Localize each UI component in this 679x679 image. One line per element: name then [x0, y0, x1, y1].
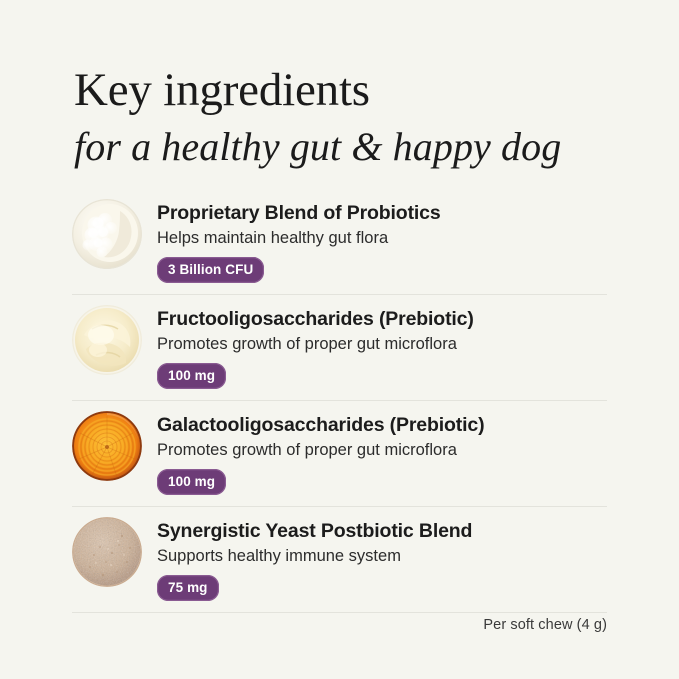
ingredient-description: Helps maintain healthy gut flora: [157, 227, 607, 249]
ingredient-text: Fructooligosaccharides (Prebiotic) Promo…: [146, 295, 607, 389]
orange-root-slice-icon: [72, 411, 142, 481]
ingredient-thumb-wrap: [72, 401, 146, 481]
ingredient-amount-badge: 100 mg: [157, 469, 226, 495]
heading-block: Key ingredients for a healthy gut & happ…: [74, 62, 614, 173]
ingredient-amount-badge: 100 mg: [157, 363, 226, 389]
ingredient-name: Fructooligosaccharides (Prebiotic): [157, 307, 607, 331]
ingredients-list: Proprietary Blend of Probiotics Helps ma…: [72, 189, 607, 613]
ingredient-row: Proprietary Blend of Probiotics Helps ma…: [72, 189, 607, 295]
ingredient-name: Synergistic Yeast Postbiotic Blend: [157, 519, 607, 543]
ingredient-amount-badge: 3 Billion CFU: [157, 257, 264, 283]
ingredient-description: Promotes growth of proper gut microflora: [157, 439, 607, 461]
ingredient-thumb-wrap: [72, 295, 146, 375]
ingredient-row: Galactooligosaccharides (Prebiotic) Prom…: [72, 401, 607, 507]
ingredient-text: Galactooligosaccharides (Prebiotic) Prom…: [146, 401, 607, 495]
page-subtitle: for a healthy gut & happy dog: [74, 121, 614, 173]
ingredient-thumb-wrap: [72, 507, 146, 587]
ingredient-row: Fructooligosaccharides (Prebiotic) Promo…: [72, 295, 607, 401]
serving-size-note: Per soft chew (4 g): [483, 617, 607, 633]
page-title: Key ingredients: [74, 62, 614, 118]
ingredient-description: Promotes growth of proper gut microflora: [157, 333, 607, 355]
ingredient-description: Supports healthy immune system: [157, 545, 607, 567]
key-ingredients-panel: Key ingredients for a healthy gut & happ…: [0, 0, 679, 679]
yogurt-probiotic-swirl-icon: [72, 199, 142, 269]
ingredient-amount-badge: 75 mg: [157, 575, 219, 601]
ingredient-text: Synergistic Yeast Postbiotic Blend Suppo…: [146, 507, 607, 601]
ingredient-text: Proprietary Blend of Probiotics Helps ma…: [146, 189, 607, 283]
ingredient-name: Proprietary Blend of Probiotics: [157, 201, 607, 225]
ingredient-name: Galactooligosaccharides (Prebiotic): [157, 413, 607, 437]
ingredient-row: Synergistic Yeast Postbiotic Blend Suppo…: [72, 507, 607, 613]
tan-yeast-granules-icon: [72, 517, 142, 587]
cream-chicory-puree-icon: [72, 305, 142, 375]
ingredient-thumb-wrap: [72, 189, 146, 269]
